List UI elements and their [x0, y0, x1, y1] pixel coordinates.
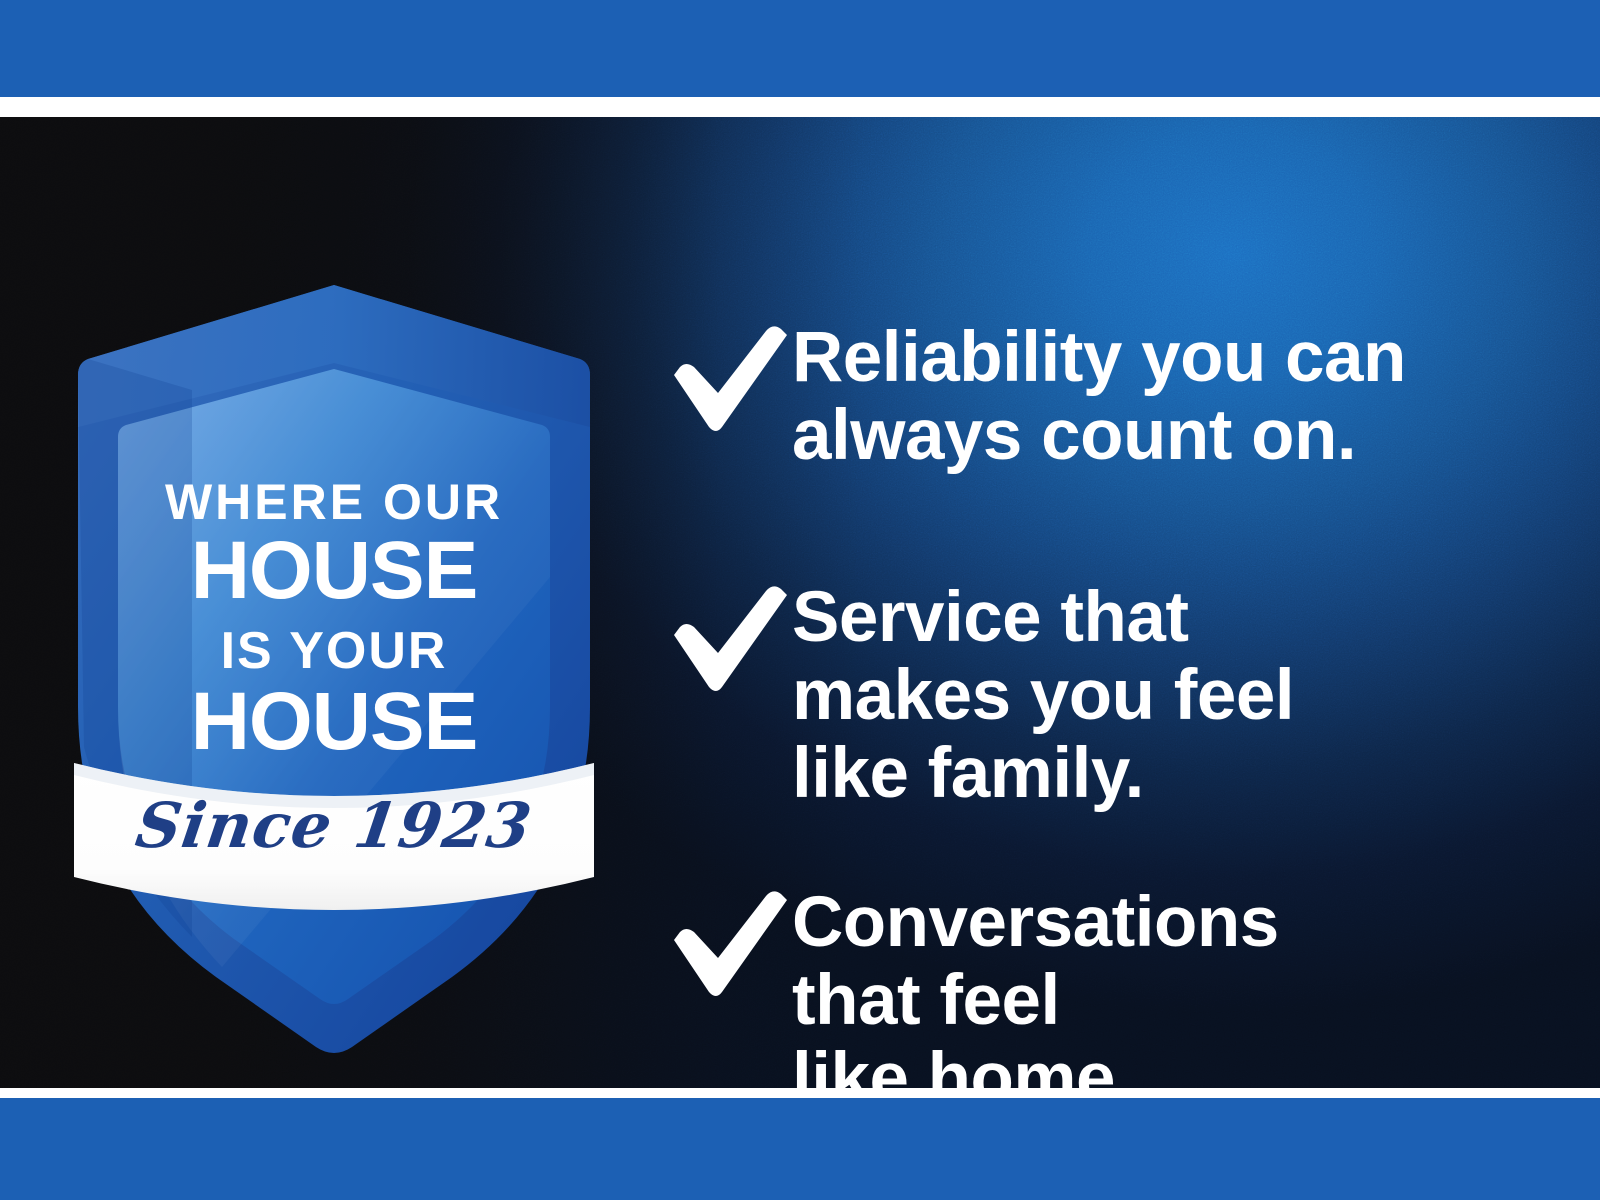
benefit-line: Service that	[792, 579, 1294, 657]
benefit-line: Reliability you can	[792, 319, 1406, 397]
bottom-brand-bar	[0, 1098, 1600, 1200]
benefit-line: makes you feel	[792, 657, 1294, 735]
benefits-list: Reliability you can always count on. Ser…	[660, 277, 1540, 1088]
benefit-line: like home.	[792, 1040, 1279, 1088]
check-icon	[660, 317, 792, 435]
benefit-item: Service that makes you feel like family.	[660, 577, 1294, 813]
benefit-item: Conversations that feel like home.	[660, 882, 1279, 1088]
check-icon	[660, 577, 792, 695]
benefit-text: Service that makes you feel like family.	[792, 577, 1294, 813]
promo-poster: WHERE OUR HOUSE IS YOUR HOUSE Since 1923…	[0, 0, 1600, 1200]
benefit-line: like family.	[792, 735, 1294, 813]
benefit-text: Conversations that feel like home.	[792, 882, 1279, 1088]
benefit-line: Conversations	[792, 884, 1279, 962]
benefit-item: Reliability you can always count on.	[660, 317, 1406, 475]
benefit-line: always count on.	[792, 397, 1406, 475]
poster-canvas: WHERE OUR HOUSE IS YOUR HOUSE Since 1923…	[0, 117, 1600, 1088]
shield-badge-icon	[72, 277, 596, 1067]
check-icon	[660, 882, 792, 1000]
benefit-line: that feel	[792, 962, 1279, 1040]
shield-badge: WHERE OUR HOUSE IS YOUR HOUSE Since 1923	[72, 277, 596, 1067]
benefit-text: Reliability you can always count on.	[792, 317, 1406, 475]
top-brand-bar	[0, 0, 1600, 97]
